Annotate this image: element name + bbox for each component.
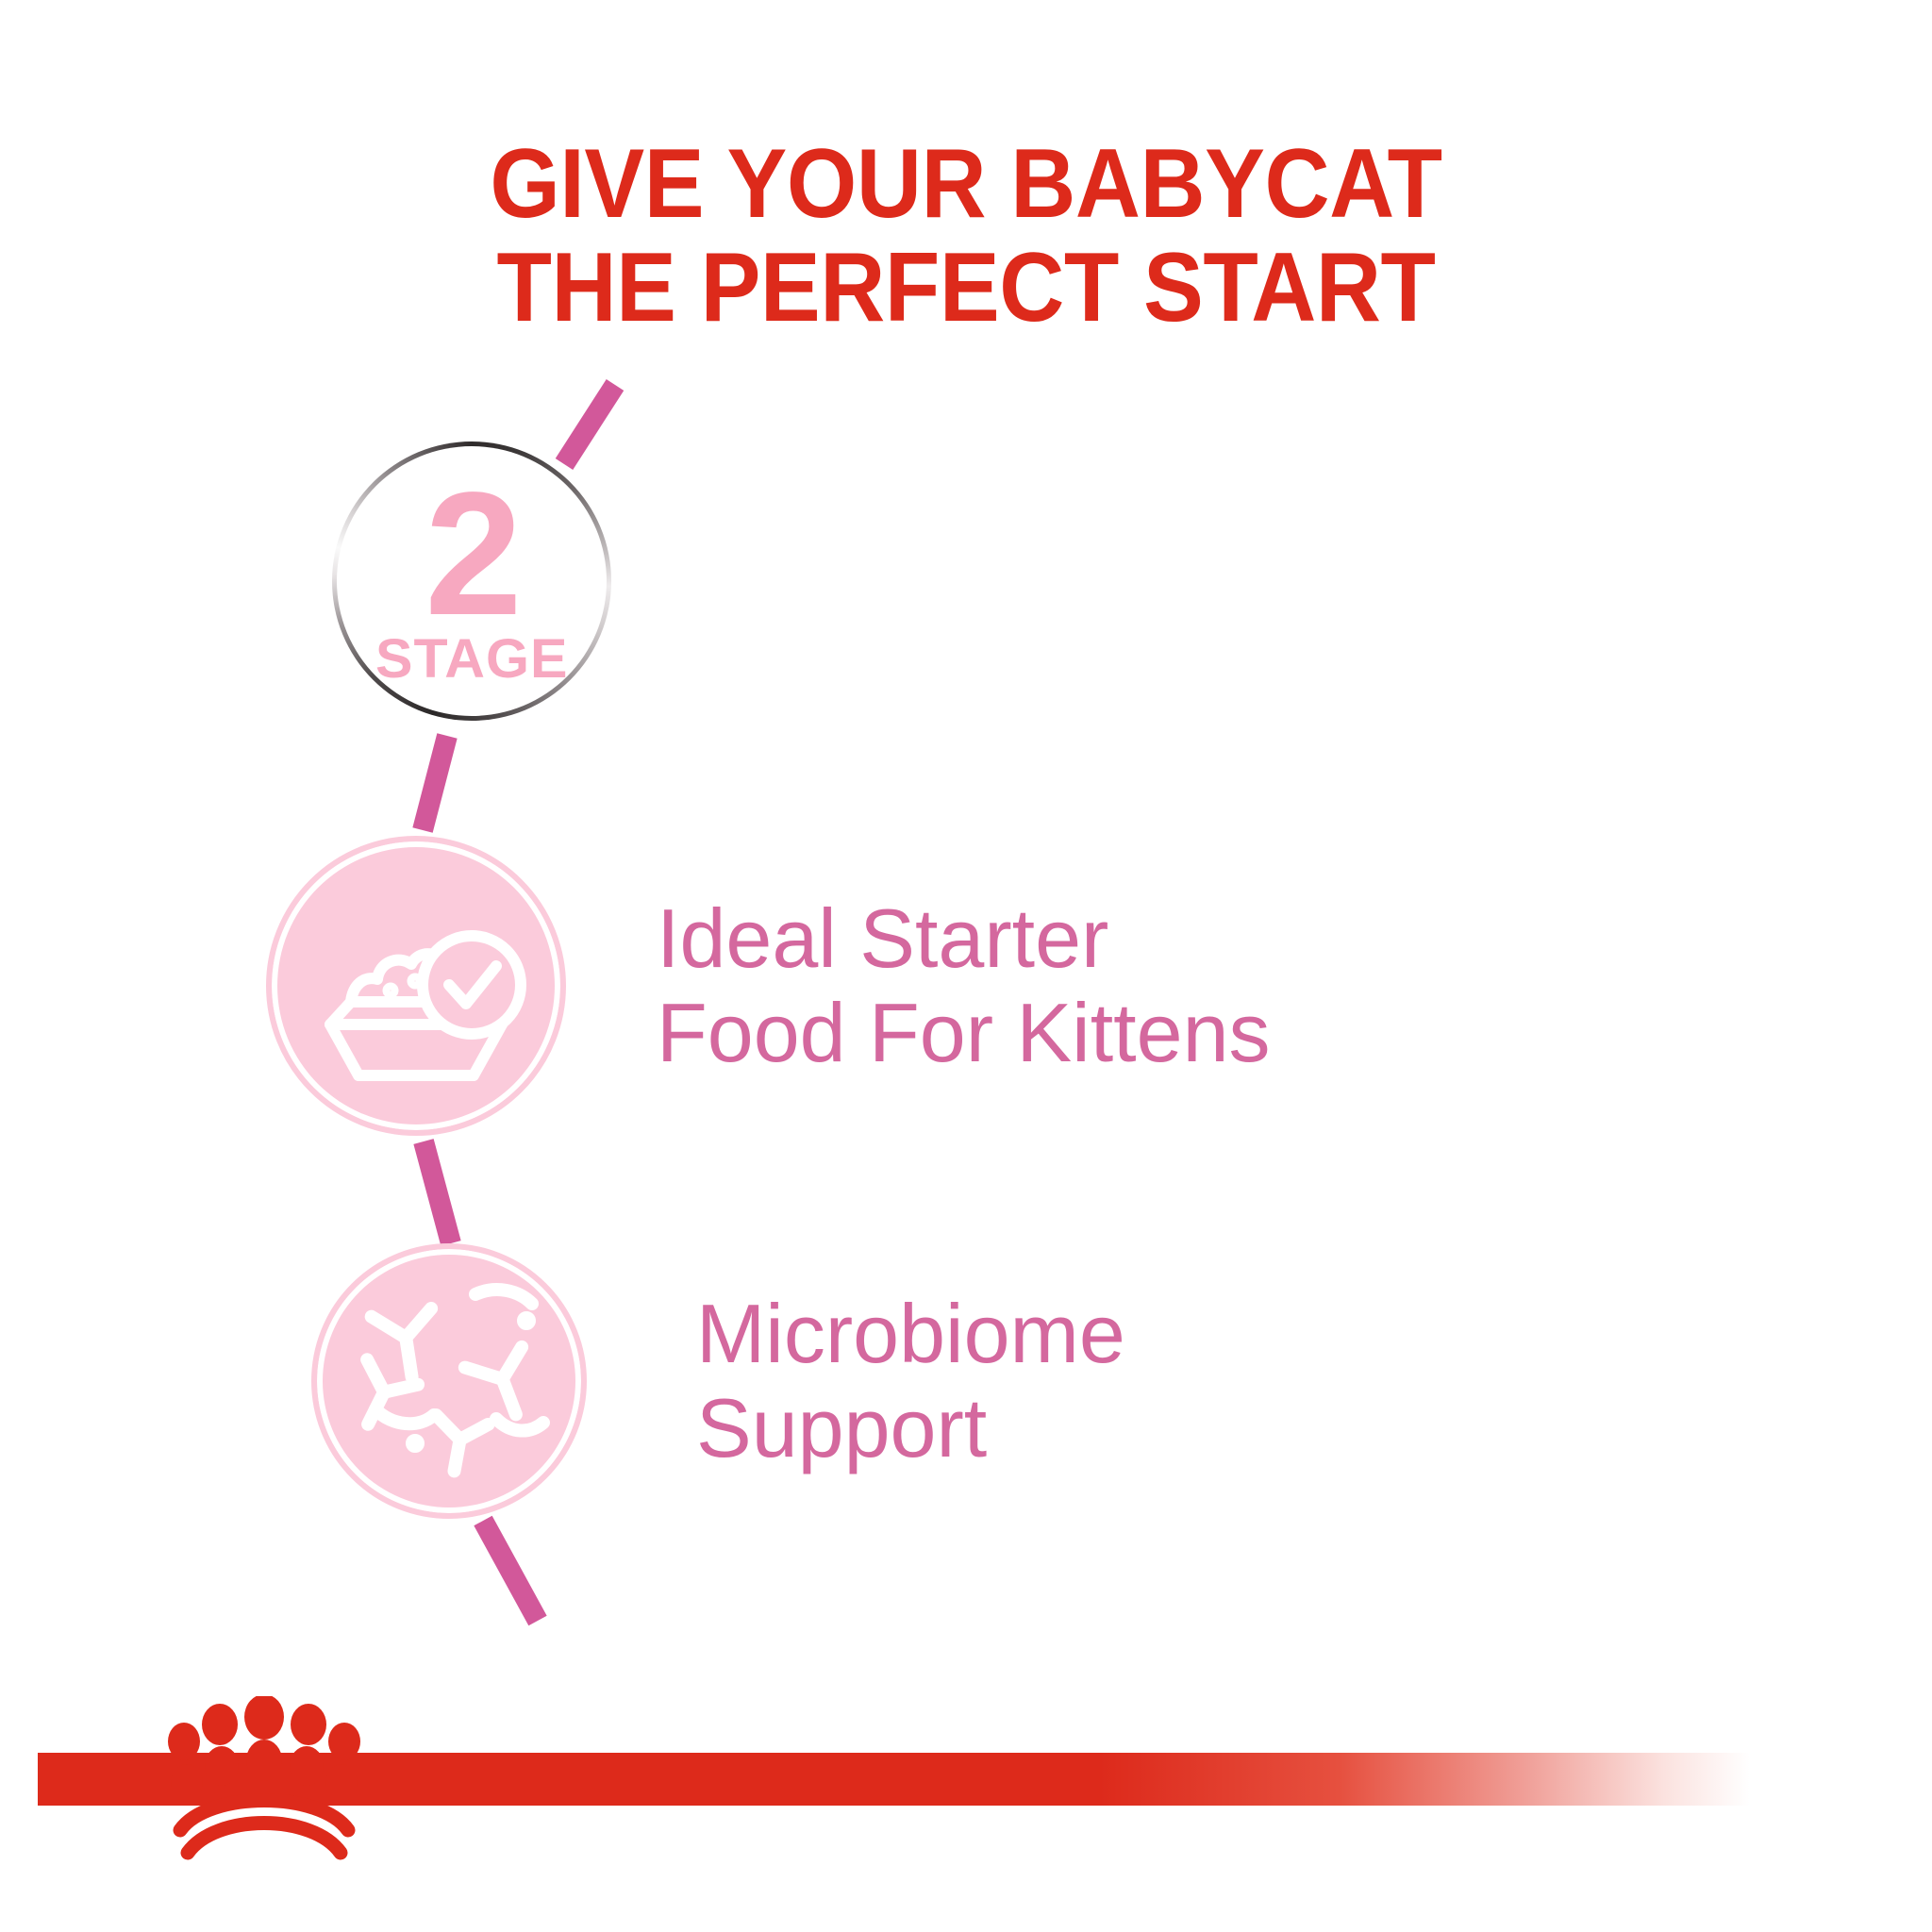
food-bowl-check-icon (266, 836, 566, 1136)
microbiome-bacteria-icon (311, 1243, 587, 1519)
stage-badge: 2 STAGE (332, 441, 611, 721)
poster-canvas: GIVE YOUR BABYCAT THE PERFECT START 2 ST… (0, 0, 1932, 1932)
benefit-label-microbiome-support: Microbiome Support (696, 1287, 1125, 1476)
stage-number: 2 (425, 483, 518, 627)
benefit-row-microbiome-support: Microbiome Support (311, 1243, 1125, 1519)
benefit-label-ideal-starter-food: Ideal Starter Food For Kittens (657, 891, 1271, 1081)
headline-line-1: GIVE YOUR BABYCAT (77, 132, 1855, 236)
benefit-row-ideal-starter-food: Ideal Starter Food For Kittens (266, 836, 1271, 1136)
benefit-icon-wrap (266, 836, 566, 1136)
headline-line-2: THE PERFECT START (77, 236, 1855, 340)
royal-canin-crown-logo (165, 1696, 363, 1864)
page-title: GIVE YOUR BABYCAT THE PERFECT START (77, 132, 1855, 340)
stage-badge-inner: 2 STAGE (332, 441, 611, 721)
stage-label: STAGE (375, 632, 569, 687)
benefit-icon-wrap (311, 1243, 587, 1519)
